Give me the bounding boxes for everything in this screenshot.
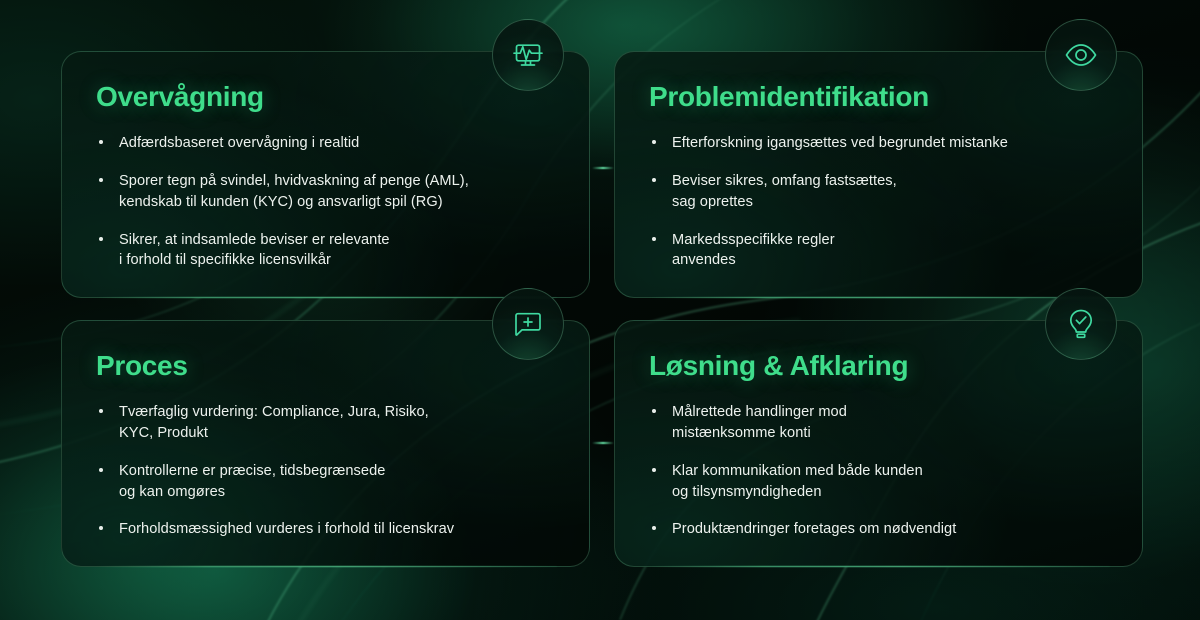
bullet-dot xyxy=(99,409,103,413)
list-item: Tværfaglig vurdering: Compliance, Jura, … xyxy=(96,402,559,443)
bullet-dot xyxy=(652,178,656,182)
bullet-line-1: Kontrollerne er præcise, tidsbegrænsede xyxy=(119,463,385,479)
list-item: Markedsspecifikke regler anvendes xyxy=(649,230,1112,271)
bullet-dot xyxy=(99,178,103,182)
bullet-dot xyxy=(99,526,103,530)
bullet-line-1: Målrettede handlinger mod xyxy=(672,404,847,420)
list-item: Beviser sikres, omfang fastsættes, sag o… xyxy=(649,171,1112,212)
list-item: Sikrer, at indsamlede beviser er relevan… xyxy=(96,230,559,271)
bullet-list: Tværfaglig vurdering: Compliance, Jura, … xyxy=(96,402,559,540)
bullet-line-1: Sporer tegn på svindel, hvidvaskning af … xyxy=(119,173,469,189)
bullet-line-2: anvendes xyxy=(672,250,1112,271)
bullet-dot xyxy=(652,237,656,241)
eye-icon xyxy=(1045,19,1117,91)
lightbulb-check-icon xyxy=(1045,288,1117,360)
bullet-line-2: og tilsynsmyndigheden xyxy=(672,482,1112,503)
bullet-dot xyxy=(99,237,103,241)
bullet-dot xyxy=(652,468,656,472)
card-proces: Proces Tværfaglig vurdering: Compliance,… xyxy=(61,320,590,567)
list-item: Produktændringer foretages om nødvendigt xyxy=(649,519,1112,540)
bullet-line-2: mistænksomme konti xyxy=(672,423,1112,444)
card-title: Løsning & Afklaring xyxy=(649,351,1112,380)
bullet-line-1: Beviser sikres, omfang fastsættes, xyxy=(672,173,897,189)
bullet-dot xyxy=(99,140,103,144)
card-title: Proces xyxy=(96,351,559,380)
bullet-line-2: sag oprettes xyxy=(672,192,1112,213)
card-loesning-afklaring: Løsning & Afklaring Målrettede handlinge… xyxy=(614,320,1143,567)
chat-plus-icon xyxy=(492,288,564,360)
list-item: Kontrollerne er præcise, tidsbegrænsede … xyxy=(96,461,559,502)
card-grid: Overvågning Adfærdsbaseret overvågning i… xyxy=(0,0,1200,620)
bullet-line-2: kendskab til kunden (KYC) og ansvarligt … xyxy=(119,192,559,213)
card-title: Problemidentifikation xyxy=(649,82,1112,111)
bullet-line-1: Markedsspecifikke regler xyxy=(672,232,835,248)
bullet-line-1: Adfærdsbaseret overvågning i realtid xyxy=(119,135,359,151)
bullet-list: Efterforskning igangsættes ved begrundet… xyxy=(649,133,1112,271)
card-title: Overvågning xyxy=(96,82,559,111)
list-item: Efterforskning igangsættes ved begrundet… xyxy=(649,133,1112,154)
bullet-dot xyxy=(99,468,103,472)
list-item: Sporer tegn på svindel, hvidvaskning af … xyxy=(96,171,559,212)
bullet-line-2: KYC, Produkt xyxy=(119,423,559,444)
bullet-line-1: Klar kommunikation med både kunden xyxy=(672,463,923,479)
bullet-line-1: Forholdsmæssighed vurderes i forhold til… xyxy=(119,521,454,537)
bullet-line-2: i forhold til specifikke licensvilkår xyxy=(119,250,559,271)
bullet-line-1: Efterforskning igangsættes ved begrundet… xyxy=(672,135,1008,151)
list-item: Adfærdsbaseret overvågning i realtid xyxy=(96,133,559,154)
bullet-list: Målrettede handlinger mod mistænksomme k… xyxy=(649,402,1112,540)
bullet-list: Adfærdsbaseret overvågning i realtid Spo… xyxy=(96,133,559,271)
bullet-dot xyxy=(652,409,656,413)
card-overvaagning: Overvågning Adfærdsbaseret overvågning i… xyxy=(61,51,590,298)
bullet-line-1: Tværfaglig vurdering: Compliance, Jura, … xyxy=(119,404,429,420)
bullet-dot xyxy=(652,526,656,530)
bullet-dot xyxy=(652,140,656,144)
card-problemidentifikation: Problemidentifikation Efterforskning iga… xyxy=(614,51,1143,298)
bullet-line-2: og kan omgøres xyxy=(119,482,559,503)
bullet-line-1: Produktændringer foretages om nødvendigt xyxy=(672,521,956,537)
list-item: Målrettede handlinger mod mistænksomme k… xyxy=(649,402,1112,443)
monitor-pulse-icon xyxy=(492,19,564,91)
bullet-line-1: Sikrer, at indsamlede beviser er relevan… xyxy=(119,232,390,248)
list-item: Forholdsmæssighed vurderes i forhold til… xyxy=(96,519,559,540)
list-item: Klar kommunikation med både kunden og ti… xyxy=(649,461,1112,502)
